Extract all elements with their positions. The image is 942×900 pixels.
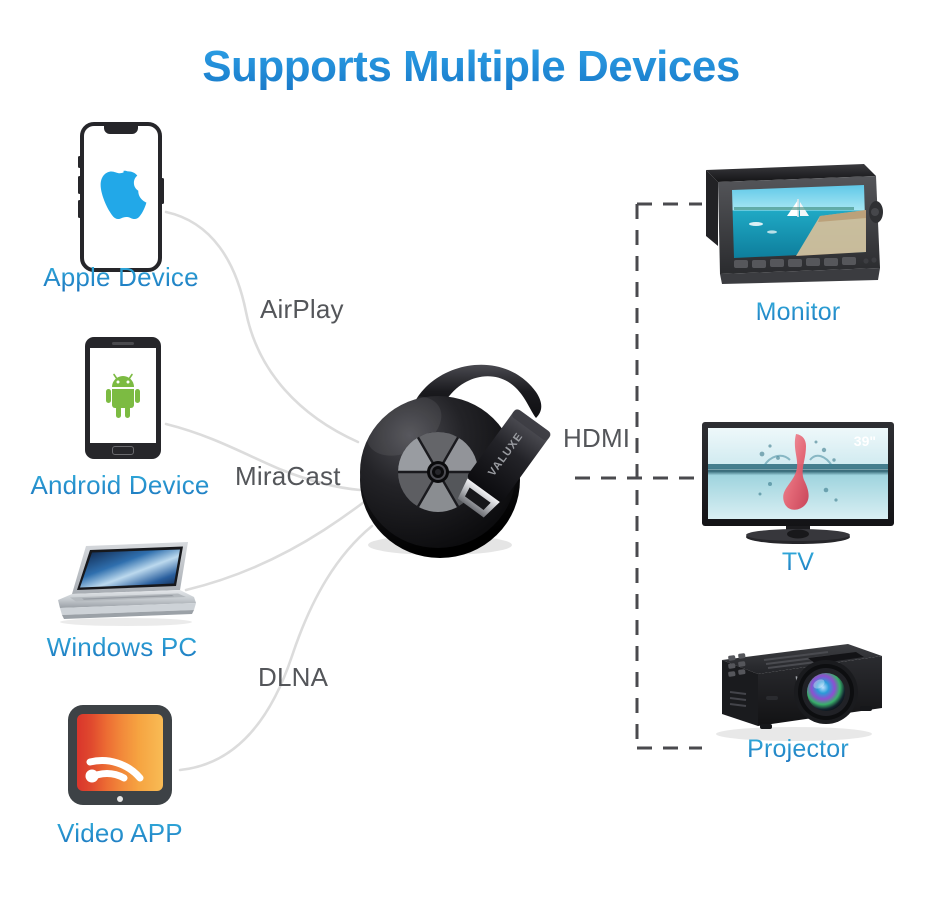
apple-device-art bbox=[80, 122, 162, 272]
label-apple-device: Apple Device bbox=[0, 262, 242, 293]
infographic-canvas: Supports Multiple Devices bbox=[0, 0, 942, 900]
iphone-notch bbox=[104, 126, 138, 134]
protocol-label-miracast: MiraCast bbox=[235, 461, 341, 492]
video-app-art bbox=[68, 705, 172, 805]
laptop-icon bbox=[48, 540, 196, 626]
label-windows-pc: Windows PC bbox=[0, 632, 244, 663]
wireless-display-dongle-icon: VALUXE bbox=[330, 340, 590, 560]
apple-logo-icon bbox=[84, 126, 158, 268]
label-tv: TV bbox=[700, 548, 896, 577]
video-app-screen bbox=[77, 714, 163, 791]
monitor-art bbox=[700, 160, 890, 290]
android-home-button bbox=[112, 446, 134, 455]
protocol-label-airplay: AirPlay bbox=[260, 294, 344, 325]
page-title: Supports Multiple Devices bbox=[0, 42, 942, 92]
dongle-art: VALUXE bbox=[330, 340, 590, 560]
projector-art: UNIC bbox=[700, 630, 886, 742]
tablet-home-indicator bbox=[117, 796, 123, 802]
monitor-icon bbox=[700, 160, 890, 290]
projector-icon: UNIC bbox=[700, 630, 886, 742]
iphone-power-button bbox=[161, 178, 164, 204]
tv-icon: 39" bbox=[700, 420, 896, 548]
windows-pc-art bbox=[48, 540, 196, 626]
iphone-volume-down bbox=[78, 200, 81, 218]
android-robot-icon bbox=[103, 373, 143, 419]
cast-wifi-icon bbox=[77, 714, 163, 791]
iphone-mute-switch bbox=[78, 156, 81, 168]
android-screen bbox=[90, 348, 156, 443]
label-monitor: Monitor bbox=[700, 298, 896, 327]
protocol-label-dlna: DLNA bbox=[258, 662, 328, 693]
tv-art: 39" bbox=[700, 420, 896, 548]
label-projector: Projector bbox=[700, 735, 896, 764]
android-earpiece bbox=[112, 342, 134, 345]
label-video-app: Video APP bbox=[0, 818, 240, 849]
android-device-art bbox=[85, 337, 161, 459]
projector-lens bbox=[807, 673, 845, 711]
label-android-device: Android Device bbox=[0, 470, 240, 501]
tv-size-badge: 39" bbox=[854, 433, 876, 449]
iphone-volume-up bbox=[78, 176, 81, 194]
